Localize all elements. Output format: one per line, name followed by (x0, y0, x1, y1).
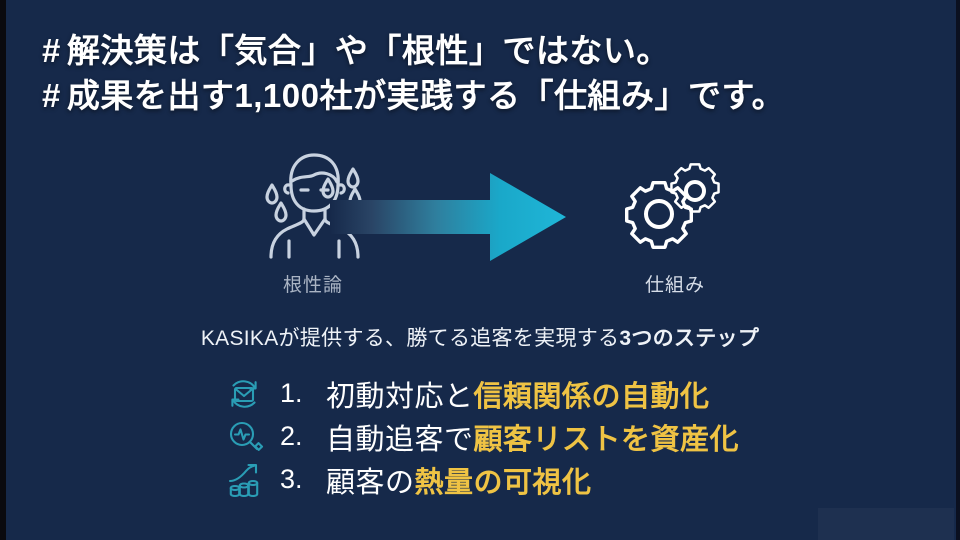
step-text-highlight: 熱量の可視化 (415, 467, 592, 499)
transition-to-block: 仕組み (600, 145, 750, 297)
step-text-highlight: 顧客リストを資産化 (474, 424, 740, 456)
transition-from-caption: 根性論 (248, 270, 378, 297)
headline-line-1-text: 解決策は「気合」や「根性」ではない。 (67, 32, 670, 69)
sub-headline-plain: KASIKAが提供する、勝てる追客を実現する (201, 327, 619, 350)
headline: #解決策は「気合」や「根性」ではない。 #成果を出す1,100社が実践する「仕組… (42, 28, 922, 118)
step-text-plain: 初動対応と (326, 381, 474, 413)
hash-mark-1: # (42, 28, 61, 73)
list-item[interactable]: 1. 初動対応と信頼関係の自動化 (218, 372, 898, 415)
bottom-right-panel (818, 508, 954, 540)
step-text-plain: 自動追客で (326, 424, 474, 456)
step-number: 3. (270, 464, 326, 495)
left-frame-edge (0, 0, 6, 540)
step-number: 2. (270, 421, 326, 452)
headline-line-2: #成果を出す1,100社が実践する「仕組み」です。 (42, 73, 922, 118)
step-text: 顧客の熱量の可視化 (326, 459, 592, 501)
transition-graphic: 根性論 (0, 145, 960, 305)
list-item[interactable]: 2. 自動追客で顧客リストを資産化 (218, 415, 898, 458)
step-number: 1. (270, 378, 326, 409)
right-frame-edge (956, 0, 960, 540)
pulse-magnifier-icon (218, 415, 270, 458)
sub-headline-bold: 3つのステップ (619, 327, 759, 350)
steps-list: 1. 初動対応と信頼関係の自動化 2. 自動追客で顧客リストを資産化 (218, 372, 898, 501)
step-text-plain: 顧客の (326, 467, 415, 499)
hash-mark-2: # (42, 73, 61, 118)
step-text: 自動追客で顧客リストを資産化 (326, 416, 739, 458)
headline-line-1: #解決策は「気合」や「根性」ではない。 (42, 28, 922, 73)
step-text-highlight: 信頼関係の自動化 (474, 381, 710, 413)
email-refresh-icon (218, 372, 270, 415)
step-text: 初動対応と信頼関係の自動化 (326, 373, 710, 415)
growth-coins-icon (218, 458, 270, 501)
right-arrow-gradient (330, 167, 570, 267)
slide-root: #解決策は「気合」や「根性」ではない。 #成果を出す1,100社が実践する「仕組… (0, 0, 960, 540)
headline-line-2-text: 成果を出す1,100社が実践する「仕組み」です。 (67, 77, 785, 114)
transition-to-caption: 仕組み (600, 270, 750, 297)
gears-icon (613, 250, 737, 267)
list-item[interactable]: 3. 顧客の熱量の可視化 (218, 458, 898, 501)
sub-headline: KASIKAが提供する、勝てる追客を実現する3つのステップ (0, 322, 960, 352)
